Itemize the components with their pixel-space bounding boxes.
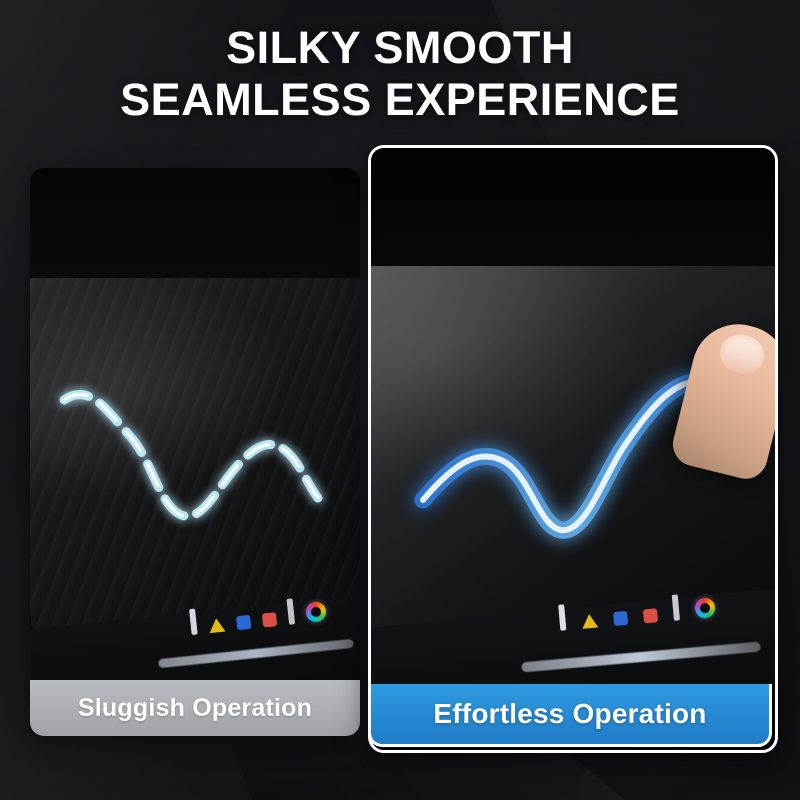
laptop-photo-sluggish: [30, 168, 360, 736]
laptop-bezel-top: [371, 148, 775, 266]
laptop-photo-effortless: [371, 148, 775, 750]
laptop-bezel-top: [30, 168, 360, 278]
dock-red-icon: [643, 608, 658, 623]
dock-blue-icon: [613, 611, 628, 626]
caption-effortless: Effortless Operation: [368, 684, 772, 747]
fingernail: [716, 330, 768, 378]
warning-triangle-icon: [581, 613, 598, 628]
warning-triangle-icon: [208, 618, 225, 634]
comparison-panel-effortless: [368, 145, 778, 753]
promo-graphic: SILKY SMOOTH SEAMLESS EXPERIENCE: [0, 0, 800, 800]
caption-sluggish: Sluggish Operation: [30, 680, 360, 736]
dock-blue-icon: [236, 615, 251, 630]
dock-slider-icon: [672, 594, 680, 620]
dock-pen-icon: [558, 604, 566, 630]
color-wheel-icon: [305, 601, 327, 623]
headline-line-1: SILKY SMOOTH: [0, 22, 800, 74]
headline-line-2: SEAMLESS EXPERIENCE: [0, 74, 800, 126]
color-wheel-icon: [694, 597, 716, 619]
dock-slider-icon: [286, 598, 295, 624]
headline: SILKY SMOOTH SEAMLESS EXPERIENCE: [0, 22, 800, 126]
dock-red-icon: [262, 612, 277, 627]
comparison-panel-sluggish: [30, 168, 360, 736]
